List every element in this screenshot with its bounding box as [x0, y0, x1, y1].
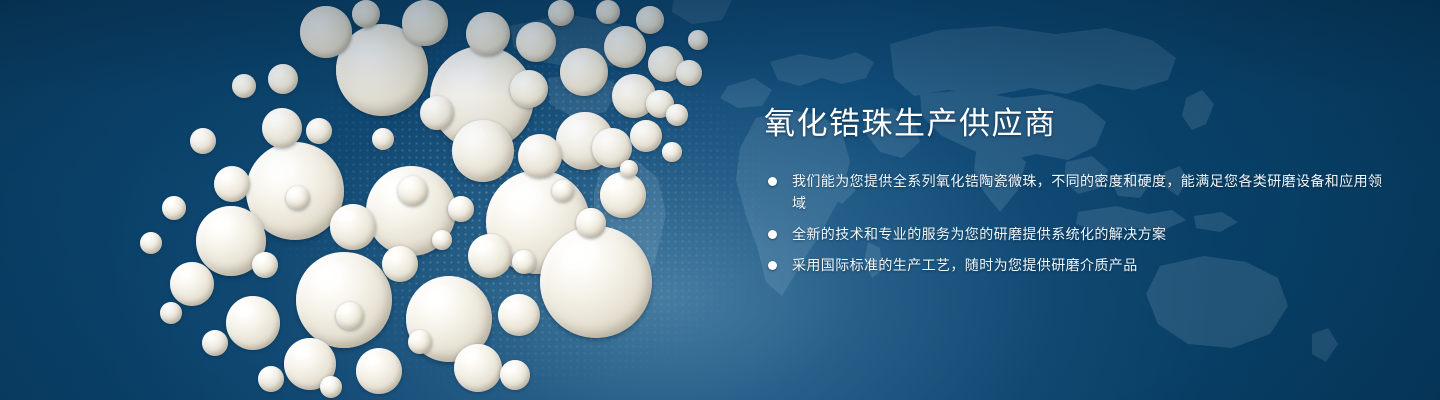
bullet-text: 全新的技术和专业的服务为您的研磨提供系统化的解决方案: [792, 226, 1166, 242]
page-title: 氧化锆珠生产供应商: [764, 104, 1384, 144]
list-item: 采用国际标准的生产工艺，随时为您提供研磨介质产品: [764, 254, 1384, 276]
list-item: 我们能为您提供全系列氧化锆陶瓷微珠，不同的密度和硬度，能满足您各类研磨设备和应用…: [764, 170, 1384, 214]
bullet-text: 采用国际标准的生产工艺，随时为您提供研磨介质产品: [792, 257, 1138, 273]
bullet-dot-icon: [768, 177, 777, 186]
feature-bullet-list: 我们能为您提供全系列氧化锆陶瓷微珠，不同的密度和硬度，能满足您各类研磨设备和应用…: [764, 170, 1384, 276]
banner-copy: 氧化锆珠生产供应商 我们能为您提供全系列氧化锆陶瓷微珠，不同的密度和硬度，能满足…: [764, 104, 1384, 276]
bullet-dot-icon: [768, 261, 777, 270]
list-item: 全新的技术和专业的服务为您的研磨提供系统化的解决方案: [764, 223, 1384, 245]
bullet-text: 我们能为您提供全系列氧化锆陶瓷微珠，不同的密度和硬度，能满足您各类研磨设备和应用…: [792, 173, 1382, 211]
hero-banner: 氧化锆珠生产供应商 我们能为您提供全系列氧化锆陶瓷微珠，不同的密度和硬度，能满足…: [0, 0, 1440, 400]
bullet-dot-icon: [768, 230, 777, 239]
